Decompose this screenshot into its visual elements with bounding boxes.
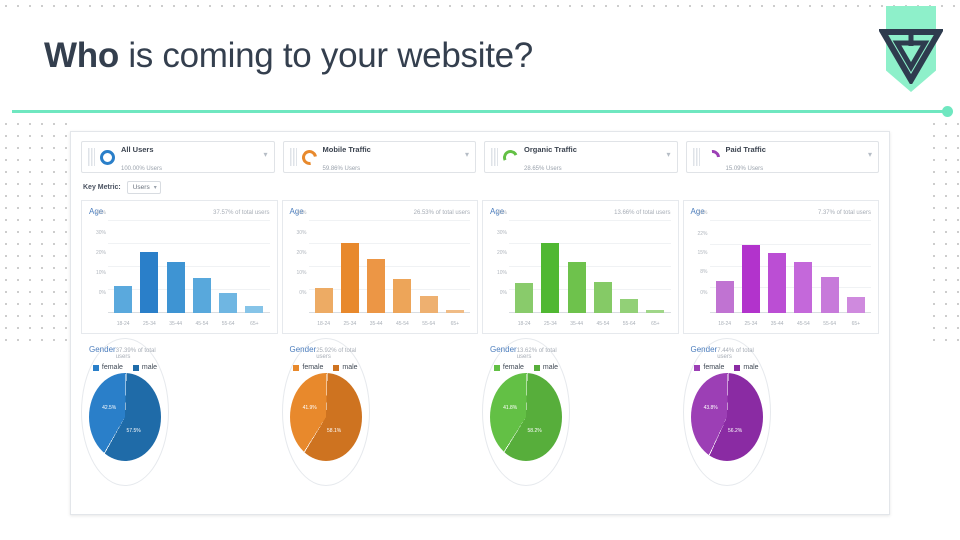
analytics-dashboard-panel: Oct 2, 2017 - Oct 8, 2018▾ All Users100.… bbox=[70, 131, 890, 515]
card-header: Gender25.92% of total users bbox=[290, 345, 362, 360]
card-title: Gender bbox=[490, 345, 517, 354]
legend-swatch-icon bbox=[93, 365, 99, 371]
pie-slice-label-female: 41.8% bbox=[503, 405, 517, 411]
x-tick-label: 65+ bbox=[245, 321, 263, 327]
pie-slice-label-female: 42.5% bbox=[102, 405, 116, 411]
bar-plot-area: 0%10%20%30%40%18-2425-3435-4445-5455-646… bbox=[89, 219, 270, 327]
x-tick-label: 45-54 bbox=[794, 321, 812, 327]
x-tick-label: 55-64 bbox=[219, 321, 237, 327]
bar[interactable] bbox=[620, 299, 638, 313]
bar[interactable] bbox=[847, 297, 865, 313]
segment-card-organic-traffic[interactable]: Organic Traffic28.65% Users▾ bbox=[484, 141, 678, 173]
bar[interactable] bbox=[315, 288, 333, 313]
decorative-dot-grid-right bbox=[928, 118, 960, 348]
legend-item-male[interactable]: male bbox=[333, 364, 357, 371]
gender-chart-card-1: Gender37.39% of total usersfemalemale57.… bbox=[81, 338, 169, 486]
bars-container bbox=[511, 219, 669, 313]
legend-label: male bbox=[342, 364, 357, 371]
gender-chart-card-4: Gender7.44% of total usersfemalemale56.2… bbox=[683, 338, 771, 486]
page-title-bold: Who bbox=[44, 36, 119, 75]
x-axis-labels: 18-2425-3435-4445-5455-6465+ bbox=[511, 321, 669, 327]
bar[interactable] bbox=[768, 253, 786, 313]
y-axis: 0%10%20%30%40% bbox=[89, 219, 108, 313]
segment-name: Organic Traffic bbox=[524, 145, 577, 154]
bar-plot-area: 0%10%20%30%40%18-2425-3435-4445-5455-646… bbox=[490, 219, 671, 327]
gender-chart-card-2: Gender25.92% of total usersfemalemale58.… bbox=[282, 338, 370, 486]
segment-text: Mobile Traffic59.86% Users bbox=[323, 139, 371, 176]
pie-slice-label-male: 56.2% bbox=[728, 428, 742, 434]
gender-chart-card-3: Gender13.62% of total usersfemalemale58.… bbox=[482, 338, 570, 486]
x-tick-label: 18-24 bbox=[716, 321, 734, 327]
decorative-dot-grid-top bbox=[0, 0, 960, 14]
x-tick-label: 65+ bbox=[847, 321, 865, 327]
bars-container bbox=[110, 219, 268, 313]
x-tick-label: 65+ bbox=[446, 321, 464, 327]
y-tick-label: 10% bbox=[96, 270, 106, 276]
segment-bars-icon bbox=[491, 148, 498, 166]
bar[interactable] bbox=[245, 306, 263, 313]
y-tick-label: 30% bbox=[697, 210, 707, 216]
legend-label: male bbox=[142, 364, 157, 371]
age-chart-card-1: Age37.57% of total users0%10%20%30%40%18… bbox=[81, 200, 278, 334]
age-chart-card-4: Age7.37% of total users0%8%15%22%30%18-2… bbox=[683, 200, 880, 334]
pie-chart[interactable]: 57.5%42.5% bbox=[89, 373, 161, 461]
segment-sub: 15.09% Users bbox=[726, 166, 764, 172]
segment-bars-icon bbox=[693, 148, 700, 166]
pie-slice-label-male: 57.5% bbox=[127, 428, 141, 434]
legend-swatch-icon bbox=[734, 365, 740, 371]
y-tick-label: 20% bbox=[497, 250, 507, 256]
header-divider bbox=[12, 110, 948, 113]
y-tick-label: 15% bbox=[697, 250, 707, 256]
segment-sub: 28.65% Users bbox=[524, 166, 562, 172]
bar[interactable] bbox=[794, 262, 812, 313]
legend-item-female[interactable]: female bbox=[494, 364, 524, 371]
card-header: Gender7.44% of total users bbox=[691, 345, 763, 360]
segment-text: Organic Traffic28.65% Users bbox=[524, 139, 577, 176]
donut-partial-icon bbox=[501, 147, 520, 166]
bar-plot-area: 0%10%20%30%40%18-2425-3435-4445-5455-646… bbox=[290, 219, 471, 327]
y-tick-label: 10% bbox=[497, 270, 507, 276]
y-tick-label: 30% bbox=[497, 230, 507, 236]
legend-item-male[interactable]: male bbox=[133, 364, 157, 371]
y-tick-label: 0% bbox=[700, 290, 707, 296]
chevron-down-icon: ▾ bbox=[154, 184, 157, 191]
x-axis-labels: 18-2425-3435-4445-5455-6465+ bbox=[712, 321, 870, 327]
legend-label: male bbox=[543, 364, 558, 371]
segment-name: Mobile Traffic bbox=[323, 145, 371, 154]
chart-grid: Age37.57% of total users0%10%20%30%40%18… bbox=[71, 200, 889, 496]
segment-text: All Users100.00% Users bbox=[121, 139, 162, 176]
age-chart-card-3: Age13.66% of total users0%10%20%30%40%18… bbox=[482, 200, 679, 334]
y-tick-label: 40% bbox=[96, 210, 106, 216]
segment-bars-icon bbox=[88, 148, 95, 166]
y-tick-label: 22% bbox=[697, 231, 707, 237]
bar[interactable] bbox=[446, 310, 464, 313]
x-tick-label: 55-64 bbox=[420, 321, 438, 327]
triangle-logo-icon bbox=[879, 26, 943, 84]
card-annotation: 7.44% of total users bbox=[717, 348, 762, 360]
x-tick-label: 18-24 bbox=[515, 321, 533, 327]
y-axis: 0%10%20%30%40% bbox=[490, 219, 509, 313]
legend-swatch-icon bbox=[534, 365, 540, 371]
legend-swatch-icon bbox=[293, 365, 299, 371]
segment-name: All Users bbox=[121, 145, 154, 154]
card-title: Gender bbox=[691, 345, 718, 354]
key-metric-select[interactable]: Users ▾ bbox=[127, 181, 161, 194]
segment-text: Paid Traffic15.09% Users bbox=[726, 139, 766, 176]
x-tick-label: 35-44 bbox=[768, 321, 786, 327]
bar[interactable] bbox=[114, 286, 132, 313]
legend-item-male[interactable]: male bbox=[534, 364, 558, 371]
x-tick-label: 45-54 bbox=[393, 321, 411, 327]
pie-plot-area: 57.5%42.5% bbox=[89, 373, 161, 461]
legend-label: male bbox=[743, 364, 758, 371]
legend-swatch-icon bbox=[133, 365, 139, 371]
card-title: Gender bbox=[290, 345, 317, 354]
key-metric-value: Users bbox=[133, 184, 150, 191]
y-tick-label: 10% bbox=[296, 270, 306, 276]
bar[interactable] bbox=[568, 262, 586, 313]
bar[interactable] bbox=[219, 293, 237, 313]
y-tick-label: 40% bbox=[497, 210, 507, 216]
pie-chart[interactable]: 56.2%43.8% bbox=[691, 373, 763, 461]
y-tick-label: 20% bbox=[96, 250, 106, 256]
x-tick-label: 18-24 bbox=[315, 321, 333, 327]
y-axis: 0%10%20%30%40% bbox=[290, 219, 309, 313]
header-divider-dot bbox=[942, 106, 953, 117]
x-tick-label: 25-34 bbox=[541, 321, 559, 327]
segment-sub: 59.86% Users bbox=[323, 166, 361, 172]
bar[interactable] bbox=[420, 296, 438, 313]
donut-partial-icon bbox=[701, 146, 722, 167]
y-tick-label: 20% bbox=[296, 250, 306, 256]
card-header: Gender13.62% of total users bbox=[490, 345, 562, 360]
pie-slice-label-female: 41.9% bbox=[303, 405, 317, 411]
pie-plot-area: 58.2%41.8% bbox=[490, 373, 562, 461]
bar[interactable] bbox=[594, 282, 612, 313]
chevron-down-icon[interactable]: ▾ bbox=[263, 150, 267, 159]
y-tick-label: 0% bbox=[500, 290, 507, 296]
pie-plot-area: 56.2%43.8% bbox=[691, 373, 763, 461]
card-annotation: 7.37% of total users bbox=[818, 210, 871, 216]
chevron-down-icon[interactable]: ▾ bbox=[666, 150, 670, 159]
card-annotation: 37.57% of total users bbox=[213, 210, 269, 216]
pie-plot-area: 58.1%41.9% bbox=[290, 373, 362, 461]
decorative-dot-grid-left bbox=[0, 118, 70, 348]
x-tick-label: 65+ bbox=[646, 321, 664, 327]
chevron-down-icon[interactable]: ▾ bbox=[868, 150, 872, 159]
pie-legend: femalemale bbox=[490, 364, 562, 371]
pie-slice-label-female: 43.8% bbox=[704, 405, 718, 411]
legend-item-female[interactable]: female bbox=[694, 364, 724, 371]
pie-chart[interactable]: 58.1%41.9% bbox=[290, 373, 362, 461]
card-annotation: 25.92% of total users bbox=[316, 348, 361, 360]
bar[interactable] bbox=[193, 278, 211, 313]
x-tick-label: 18-24 bbox=[114, 321, 132, 327]
chevron-down-icon[interactable]: ▾ bbox=[465, 150, 469, 159]
card-annotation: 26.53% of total users bbox=[414, 210, 470, 216]
legend-swatch-icon bbox=[694, 365, 700, 371]
bar[interactable] bbox=[742, 245, 760, 313]
legend-label: female bbox=[102, 364, 123, 371]
pie-slice-label-male: 58.1% bbox=[327, 428, 341, 434]
card-header: Age7.37% of total users bbox=[691, 207, 872, 216]
segment-card-mobile-traffic[interactable]: Mobile Traffic59.86% Users▾ bbox=[283, 141, 477, 173]
card-annotation: 13.62% of total users bbox=[517, 348, 562, 360]
card-header: Gender37.39% of total users bbox=[89, 345, 161, 360]
card-annotation: 13.66% of total users bbox=[614, 210, 670, 216]
x-tick-label: 35-44 bbox=[367, 321, 385, 327]
y-tick-label: 30% bbox=[96, 230, 106, 236]
x-tick-label: 25-34 bbox=[140, 321, 158, 327]
bar[interactable] bbox=[140, 252, 158, 313]
x-axis-labels: 18-2425-3435-4445-5455-6465+ bbox=[311, 321, 469, 327]
x-tick-label: 25-34 bbox=[341, 321, 359, 327]
y-tick-label: 0% bbox=[299, 290, 306, 296]
page-title-rest: is coming to your website? bbox=[119, 36, 533, 75]
card-header: Age13.66% of total users bbox=[490, 207, 671, 216]
legend-swatch-icon bbox=[494, 365, 500, 371]
y-tick-label: 40% bbox=[296, 210, 306, 216]
segment-bars-icon bbox=[290, 148, 297, 166]
bar[interactable] bbox=[393, 279, 411, 313]
card-title: Gender bbox=[89, 345, 116, 354]
bar[interactable] bbox=[167, 262, 185, 313]
card-header: Age26.53% of total users bbox=[290, 207, 471, 216]
key-metric-row: Key Metric: Users ▾ bbox=[71, 173, 889, 200]
page-title: Who is coming to your website? bbox=[44, 36, 533, 76]
pie-legend: femalemale bbox=[89, 364, 161, 371]
segment-card-paid-traffic[interactable]: Paid Traffic15.09% Users▾ bbox=[686, 141, 880, 173]
legend-item-female[interactable]: female bbox=[93, 364, 123, 371]
donut-partial-icon bbox=[299, 147, 320, 168]
x-tick-label: 35-44 bbox=[167, 321, 185, 327]
legend-item-female[interactable]: female bbox=[293, 364, 323, 371]
bar[interactable] bbox=[367, 259, 385, 313]
x-tick-label: 55-64 bbox=[821, 321, 839, 327]
bar[interactable] bbox=[821, 277, 839, 313]
bar[interactable] bbox=[541, 243, 559, 313]
card-header: Age37.57% of total users bbox=[89, 207, 270, 216]
pie-legend: femalemale bbox=[290, 364, 362, 371]
x-tick-label: 55-64 bbox=[620, 321, 638, 327]
x-tick-label: 25-34 bbox=[742, 321, 760, 327]
card-annotation: 37.39% of total users bbox=[116, 348, 161, 360]
segment-name: Paid Traffic bbox=[726, 145, 766, 154]
y-tick-label: 8% bbox=[700, 269, 707, 275]
donut-full-icon bbox=[100, 150, 115, 165]
x-axis-labels: 18-2425-3435-4445-5455-6465+ bbox=[110, 321, 268, 327]
legend-swatch-icon bbox=[333, 365, 339, 371]
bar[interactable] bbox=[515, 283, 533, 313]
key-metric-label: Key Metric: bbox=[83, 184, 121, 191]
legend-label: female bbox=[503, 364, 524, 371]
segment-card-all-users[interactable]: All Users100.00% Users▾ bbox=[81, 141, 275, 173]
segment-card-row: All Users100.00% Users▾Mobile Traffic59.… bbox=[71, 132, 889, 173]
legend-label: female bbox=[703, 364, 724, 371]
x-tick-label: 45-54 bbox=[594, 321, 612, 327]
pie-slice-label-male: 58.2% bbox=[528, 428, 542, 434]
age-chart-card-2: Age26.53% of total users0%10%20%30%40%18… bbox=[282, 200, 479, 334]
legend-item-male[interactable]: male bbox=[734, 364, 758, 371]
bar[interactable] bbox=[646, 310, 664, 313]
bar-plot-area: 0%8%15%22%30%18-2425-3435-4445-5455-6465… bbox=[691, 219, 872, 327]
x-tick-label: 35-44 bbox=[568, 321, 586, 327]
bars-container bbox=[712, 219, 870, 313]
y-tick-label: 30% bbox=[296, 230, 306, 236]
x-tick-label: 45-54 bbox=[193, 321, 211, 327]
y-tick-label: 0% bbox=[99, 290, 106, 296]
slide: Who is coming to your website? Oct 2, 20… bbox=[0, 0, 960, 540]
segment-sub: 100.00% Users bbox=[121, 166, 162, 172]
y-axis: 0%8%15%22%30% bbox=[691, 219, 710, 313]
legend-label: female bbox=[302, 364, 323, 371]
bar[interactable] bbox=[716, 281, 734, 313]
bars-container bbox=[311, 219, 469, 313]
pie-legend: femalemale bbox=[691, 364, 763, 371]
bar[interactable] bbox=[341, 243, 359, 313]
pie-chart[interactable]: 58.2%41.8% bbox=[490, 373, 562, 461]
